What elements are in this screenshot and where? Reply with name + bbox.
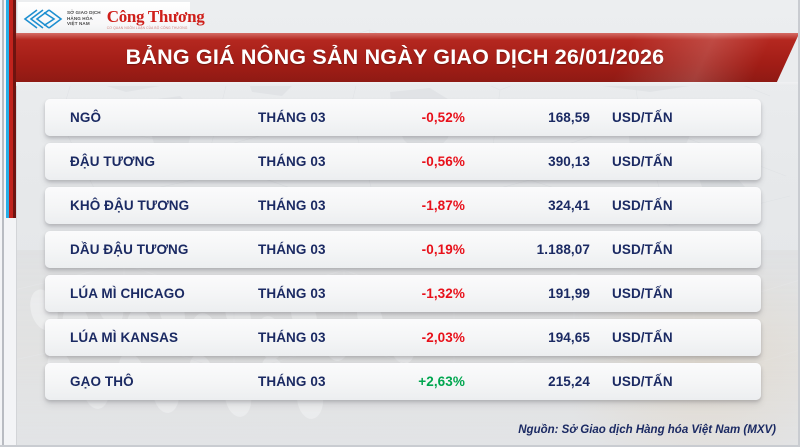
publication-logo: Công Thương CƠ QUAN NGÔN LUẬN CỦA BỘ CÔN…	[107, 8, 205, 30]
commodity-name: LÚA MÌ KANSAS	[70, 330, 178, 345]
contract-month: THÁNG 03	[258, 374, 326, 389]
change-percent: -0,19%	[345, 242, 465, 257]
change-percent: -2,03%	[345, 330, 465, 345]
price-unit: USD/TẤN	[612, 110, 673, 125]
source-note: Nguồn: Sở Giao dịch Hàng hóa Việt Nam (M…	[518, 424, 776, 436]
price-unit: USD/TẤN	[612, 242, 673, 257]
commodity-name: LÚA MÌ CHICAGO	[70, 286, 185, 301]
change-percent: -0,56%	[345, 154, 465, 169]
price-value: 390,13	[465, 154, 590, 169]
edge-stripe-gray	[2, 0, 4, 447]
commodity-price-table: NGÔ THÁNG 03 -0,52% 168,59 USD/TẤN ĐẬU T…	[45, 99, 761, 400]
commodity-name: KHÔ ĐẬU TƯƠNG	[70, 198, 189, 213]
commodity-name: GẠO THÔ	[70, 374, 134, 389]
commodity-name: NGÔ	[70, 110, 101, 125]
table-row[interactable]: LÚA MÌ KANSAS THÁNG 03 -2,03% 194,65 USD…	[45, 319, 761, 356]
change-percent: +2,63%	[345, 374, 465, 389]
table-row[interactable]: LÚA MÌ CHICAGO THÁNG 03 -1,32% 191,99 US…	[45, 275, 761, 312]
price-value: 191,99	[465, 286, 590, 301]
change-percent: -1,87%	[345, 198, 465, 213]
price-value: 324,41	[465, 198, 590, 213]
price-value: 215,24	[465, 374, 590, 389]
table-row[interactable]: ĐẬU TƯƠNG THÁNG 03 -0,56% 390,13 USD/TẤN	[45, 143, 761, 180]
price-unit: USD/TẤN	[612, 154, 673, 169]
page-title: BẢNG GIÁ NÔNG SẢN NGÀY GIAO DỊCH 26/01/2…	[16, 33, 798, 82]
publication-name: Công Thương	[107, 8, 205, 25]
contract-month: THÁNG 03	[258, 286, 326, 301]
price-value: 194,65	[465, 330, 590, 345]
commodity-name: ĐẬU TƯƠNG	[70, 154, 155, 169]
change-percent: -1,32%	[345, 286, 465, 301]
mxv-chevron-logo-icon	[22, 7, 64, 31]
price-board-infographic: SỞ GIAO DỊCH HÀNG HÓA VIỆT NAM Công Thươ…	[0, 0, 800, 447]
table-row[interactable]: KHÔ ĐẬU TƯƠNG THÁNG 03 -1,87% 324,41 USD…	[45, 187, 761, 224]
exchange-line-1: SỞ GIAO DỊCH	[67, 10, 101, 15]
exchange-name: SỞ GIAO DỊCH HÀNG HÓA VIỆT NAM	[67, 10, 101, 27]
price-value: 1.188,07	[465, 242, 590, 257]
contract-month: THÁNG 03	[258, 330, 326, 345]
price-unit: USD/TẤN	[612, 286, 673, 301]
contract-month: THÁNG 03	[258, 154, 326, 169]
exchange-line-2: HÀNG HÓA	[67, 16, 93, 21]
table-row[interactable]: GẠO THÔ THÁNG 03 +2,63% 215,24 USD/TẤN	[45, 363, 761, 400]
contract-month: THÁNG 03	[258, 242, 326, 257]
price-unit: USD/TẤN	[612, 374, 673, 389]
price-value: 168,59	[465, 110, 590, 125]
table-row[interactable]: DẦU ĐẬU TƯƠNG THÁNG 03 -0,19% 1.188,07 U…	[45, 231, 761, 268]
price-unit: USD/TẤN	[612, 198, 673, 213]
title-banner: BẢNG GIÁ NÔNG SẢN NGÀY GIAO DỊCH 26/01/2…	[16, 33, 798, 82]
contract-month: THÁNG 03	[258, 110, 326, 125]
banner-underline	[16, 82, 798, 86]
contract-month: THÁNG 03	[258, 198, 326, 213]
publication-tagline: CƠ QUAN NGÔN LUẬN CỦA BỘ CÔNG THƯƠNG	[107, 26, 205, 30]
table-row[interactable]: NGÔ THÁNG 03 -0,52% 168,59 USD/TẤN	[45, 99, 761, 136]
commodity-name: DẦU ĐẬU TƯƠNG	[70, 242, 189, 257]
brand-logo-bar: SỞ GIAO DỊCH HÀNG HÓA VIỆT NAM Công Thươ…	[18, 2, 190, 35]
exchange-line-3: VIỆT NAM	[67, 21, 90, 26]
price-unit: USD/TẤN	[612, 330, 673, 345]
change-percent: -0,52%	[345, 110, 465, 125]
